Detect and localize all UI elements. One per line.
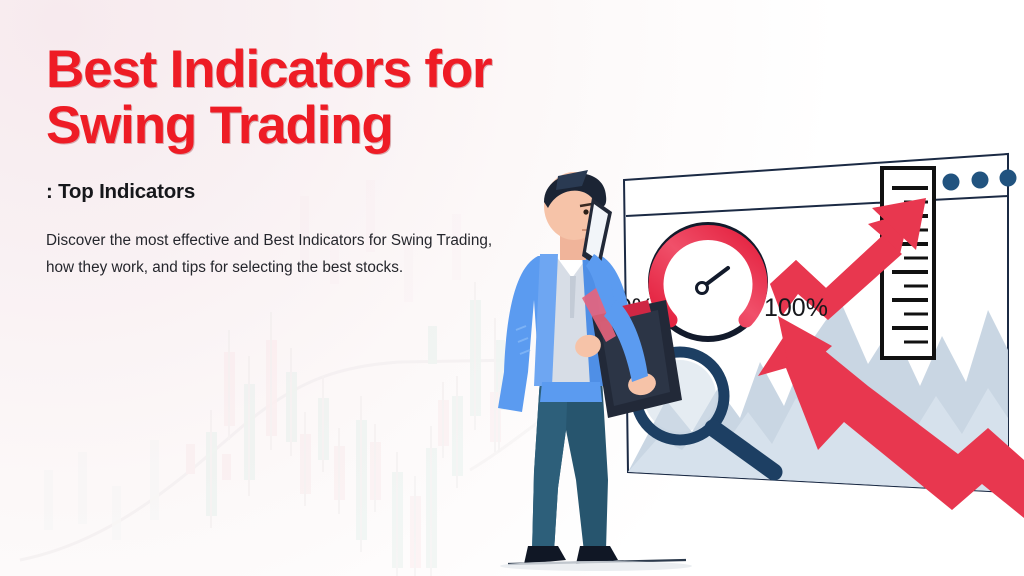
page-title: Best Indicators for Swing Trading xyxy=(46,42,566,154)
poster-canvas: Best Indicators for Swing Trading : Top … xyxy=(0,0,1024,576)
text-column: Best Indicators for Swing Trading : Top … xyxy=(46,42,566,296)
page-subtitle: : Top Indicators xyxy=(46,180,566,204)
illustration: 0% 100% xyxy=(496,150,1024,576)
ground-shadow xyxy=(500,561,692,571)
page-title-line-1: Best Indicators for xyxy=(46,40,491,99)
page-title-line-2: Swing Trading xyxy=(46,98,566,154)
page-description: Discover the most effective and Best Ind… xyxy=(46,228,516,281)
gauge-max-label: 100% xyxy=(764,294,828,322)
